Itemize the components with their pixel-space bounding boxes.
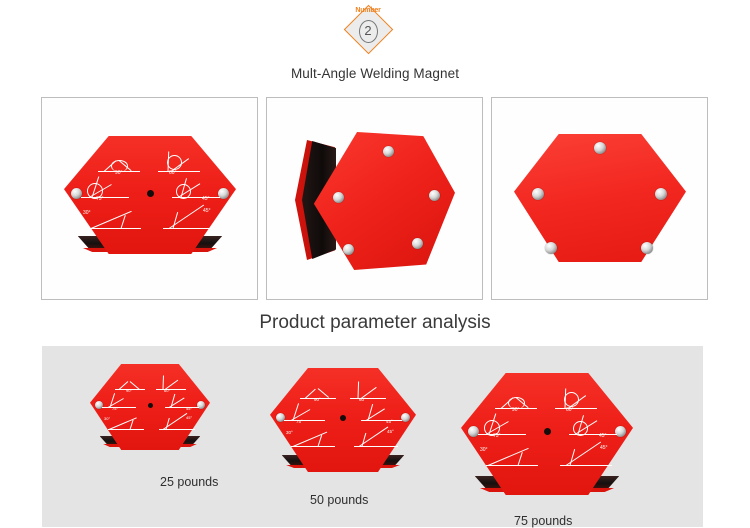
rivet-right — [429, 190, 440, 201]
product-photo-angled-view[interactable] — [266, 97, 483, 300]
angle-glyph-45-bottom: 45° — [159, 414, 195, 432]
angle-glyph-30: 30° — [108, 415, 144, 432]
angle-glyph-45-mid: 45° — [172, 178, 220, 202]
angle-glyph-45-mid: 45° — [361, 404, 402, 424]
rivet-right — [655, 188, 667, 200]
magnet-hexagon-front: 90° 60° 75° 45° — [64, 136, 236, 254]
badge-number-circle: 2 — [347, 16, 389, 46]
magnet-hexagon-angled — [295, 130, 455, 270]
angle-glyph-30: 30° — [89, 208, 141, 232]
center-hole — [544, 428, 551, 435]
section-heading: Product parameter analysis — [0, 312, 750, 334]
center-hole — [340, 415, 346, 421]
rivet-left — [532, 188, 544, 200]
magnet-spec-50lb: 90° 60° 75° 45° 30° — [270, 368, 416, 472]
angle-glyph-30: 30° — [291, 429, 335, 449]
angle-glyph-30: 30° — [486, 445, 538, 469]
badge-number: 2 — [359, 20, 378, 43]
product-photo-back-face[interactable] — [491, 97, 708, 300]
angle-glyph-45-bottom: 45° — [354, 428, 398, 449]
rivet-top — [383, 146, 394, 157]
angle-glyph-60: 60° — [158, 152, 200, 176]
rivet-right — [401, 413, 410, 422]
header-badge-area: 2 Number — [0, 4, 750, 58]
angle-glyph-90: 90° — [115, 377, 145, 393]
rivet-left — [333, 192, 344, 203]
rivet-bottom-right — [641, 242, 653, 254]
magnet-hexagon-back — [514, 134, 686, 262]
angle-glyph-45-bottom: 45° — [560, 443, 612, 469]
product-photo-front-face[interactable]: 90° 60° 75° 45° — [41, 97, 258, 300]
angle-glyph-75: 75° — [81, 178, 129, 202]
center-hole — [148, 403, 153, 408]
spec-label-25lb: 25 pounds — [160, 475, 218, 489]
rivet-bottom-right — [412, 238, 423, 249]
rivet-top — [594, 142, 606, 154]
angle-glyph-45-mid: 45° — [569, 415, 617, 439]
rivet-bottom-left — [545, 242, 557, 254]
center-hole — [147, 190, 154, 197]
magnet-spec-75lb: 90° 60° 75° 45° 30° — [461, 373, 633, 495]
badge-word-label: Number — [347, 7, 389, 14]
number-badge: 2 Number — [347, 8, 389, 50]
product-title: Mult-Angle Welding Magnet — [0, 66, 750, 81]
angle-glyph-60: 60° — [350, 382, 386, 402]
angle-glyph-75: 75° — [284, 404, 325, 424]
magnet-spec-25lb: 90° 60° 75° 45° 30° — [90, 364, 210, 450]
spec-label-50lb: 50 pounds — [310, 493, 368, 507]
angle-glyph-45-bottom: 45° — [163, 206, 215, 232]
angle-glyph-75: 75° — [102, 394, 136, 411]
spec-label-75lb: 75 pounds — [514, 514, 572, 528]
product-parameter-panel: 90° 60° 75° 45° 30° — [42, 346, 703, 527]
angle-glyph-60: 60° — [555, 389, 597, 413]
rivet-bottom-left — [343, 244, 354, 255]
angle-glyph-90: 90° — [300, 383, 336, 402]
angle-glyph-90: 90° — [98, 154, 140, 176]
angle-glyph-45-mid: 45° — [165, 394, 199, 411]
angle-glyph-90: 90° — [495, 391, 537, 413]
product-photo-row: 90° 60° 75° 45° — [41, 97, 709, 300]
angle-glyph-75: 75° — [478, 415, 526, 439]
angle-glyph-60: 60° — [156, 376, 186, 393]
